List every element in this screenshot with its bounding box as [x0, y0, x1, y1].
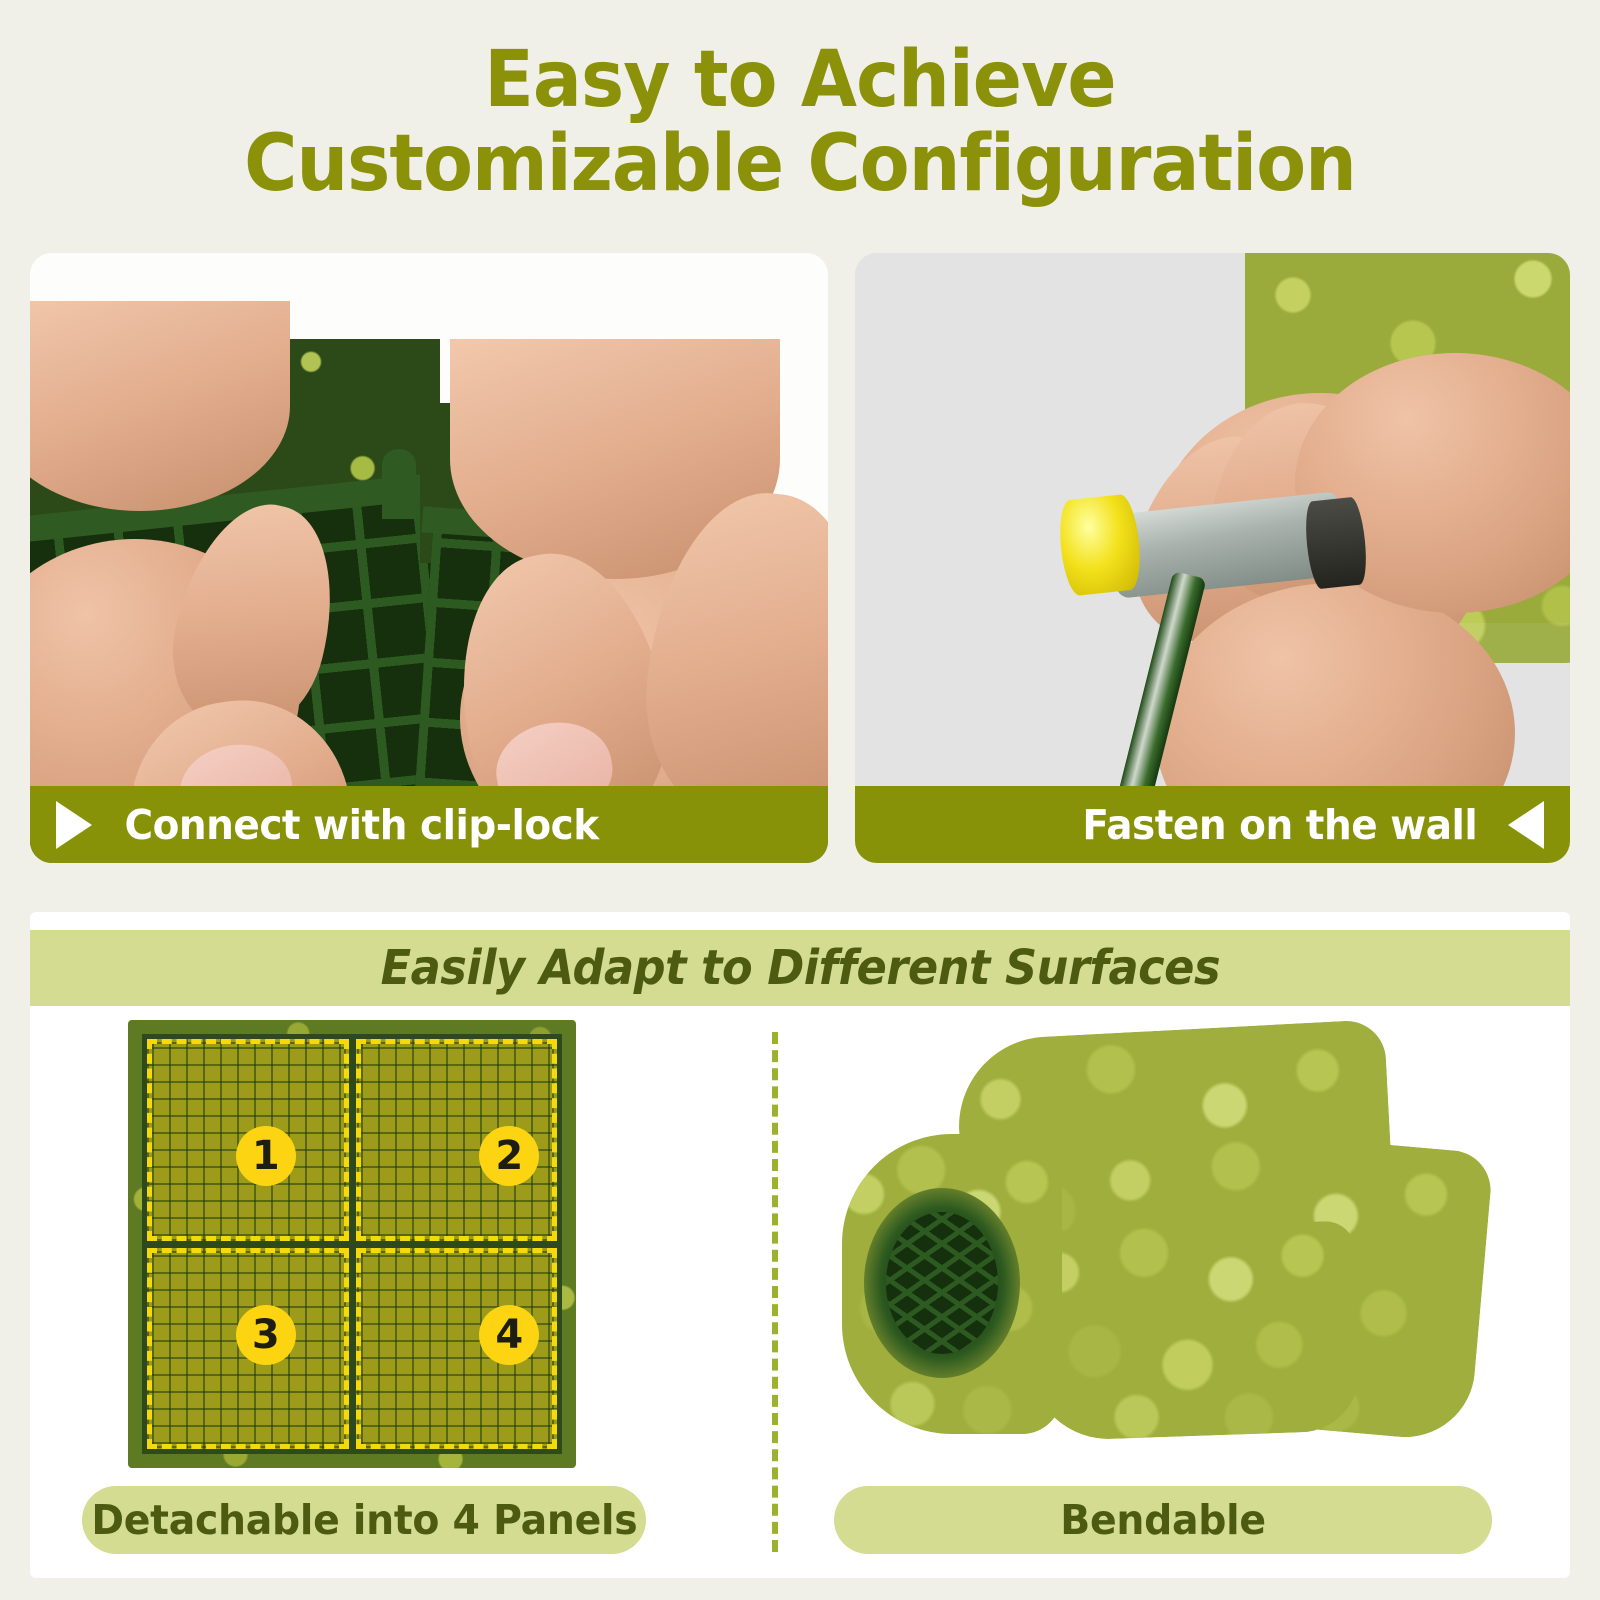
lower-section-body: 1 2 3 4 Detachable into 4 Panels [30, 1006, 1570, 1578]
photo-clip-lock-image [30, 253, 828, 863]
caption-label-bendable: Bendable [1060, 1496, 1266, 1544]
photo-card-clip-lock: Connect with clip-lock [30, 253, 828, 863]
roll-core-mesh [886, 1212, 998, 1354]
panel-number-badge-3: 3 [236, 1305, 296, 1365]
panel-number-badge-4: 4 [479, 1305, 539, 1365]
panel-quadrant-1[interactable]: 1 [147, 1039, 349, 1241]
mat-lower-fold [1024, 1220, 1361, 1441]
play-triangle-left-icon [1508, 801, 1544, 849]
panel-grid: 1 2 3 4 [142, 1034, 562, 1454]
page-title-line-2: Customizable Configuration [56, 122, 1544, 206]
photo-fasten-wall-image [855, 253, 1570, 863]
caption-pill-detachable: Detachable into 4 Panels [82, 1486, 646, 1554]
caption-bar-fasten-wall: Fasten on the wall [855, 786, 1570, 863]
lower-section-card: Easily Adapt to Different Surfaces 1 2 3 [30, 912, 1570, 1578]
caption-label-detachable: Detachable into 4 Panels [91, 1496, 637, 1544]
detachable-panels-group: 1 2 3 4 Detachable into 4 Panels [30, 1006, 772, 1578]
panel-quadrant-2[interactable]: 2 [356, 1039, 558, 1241]
section-band-title: Easily Adapt to Different Surfaces [380, 940, 1219, 996]
bendable-roll-group: Bendable [772, 1006, 1570, 1578]
photo-card-fasten-wall: Fasten on the wall [855, 253, 1570, 863]
four-panel-diagram: 1 2 3 4 [142, 1034, 562, 1454]
play-triangle-right-icon [56, 801, 92, 849]
page-header: Easy to Achieve Customizable Configurati… [0, 0, 1600, 206]
page-title-line-1: Easy to Achieve [56, 38, 1544, 122]
panel-number-badge-2: 2 [479, 1126, 539, 1186]
bendable-roll-image [812, 1016, 1532, 1466]
mallet-yellow-cap [1056, 493, 1144, 597]
caption-pill-bendable: Bendable [834, 1486, 1492, 1554]
caption-bar-clip-lock: Connect with clip-lock [30, 786, 828, 863]
caption-label-fasten-wall: Fasten on the wall [1083, 801, 1478, 849]
top-photo-row: Connect with clip-lock Fasten on the wal… [30, 253, 1570, 863]
panel-number-badge-1: 1 [236, 1126, 296, 1186]
panel-quadrant-3[interactable]: 3 [147, 1248, 349, 1450]
caption-label-clip-lock: Connect with clip-lock [124, 801, 598, 849]
clip-tab [382, 449, 416, 519]
panel-quadrant-4[interactable]: 4 [356, 1248, 558, 1450]
section-band: Easily Adapt to Different Surfaces [30, 930, 1570, 1006]
